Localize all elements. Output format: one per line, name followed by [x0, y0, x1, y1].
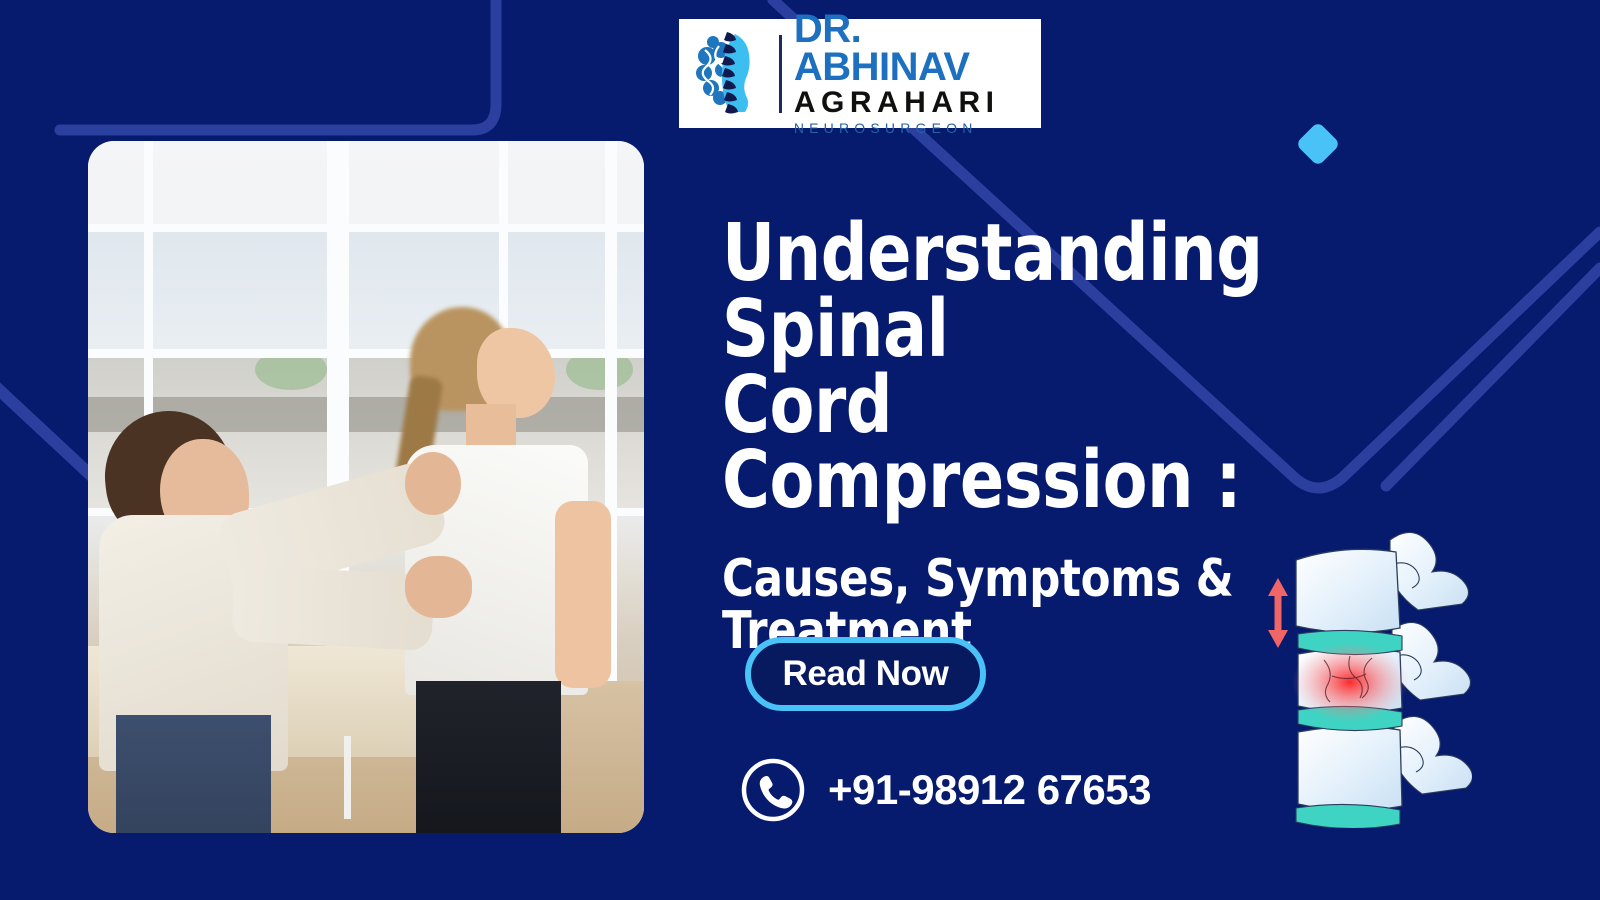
- therapist-jeans: [116, 715, 272, 833]
- brain-spine-head-icon: [691, 26, 775, 122]
- phone-number-text: +91-98912 67653: [828, 766, 1151, 814]
- read-now-button[interactable]: Read Now: [745, 637, 986, 711]
- spine-compression-diagram: [1262, 518, 1472, 828]
- patient-leggings: [416, 681, 561, 833]
- window-sky: [88, 224, 644, 349]
- diagonal-line-left: [0, 372, 98, 482]
- curve-line-top-left: [60, 0, 496, 130]
- hero-photo: [88, 141, 644, 833]
- headline-line-1: Understanding Spinal: [722, 207, 1263, 375]
- hero-photo-image: [88, 141, 644, 833]
- contact-phone[interactable]: +91-98912 67653: [740, 757, 1151, 823]
- phone-circle-icon[interactable]: [740, 757, 806, 823]
- therapist-hand-shoulder: [405, 556, 472, 618]
- logo-wordmark: DR. ABHINAV AGRAHARI NEUROSURGEON: [794, 10, 1031, 137]
- table-leg: [344, 736, 351, 819]
- pain-glow: [1292, 642, 1408, 722]
- patient-arm: [555, 501, 611, 688]
- subhead-line-1: Causes, Symptoms &: [722, 549, 1233, 609]
- window-mullion: [88, 349, 644, 358]
- vertebra-lower: [1298, 726, 1402, 810]
- page-title: Understanding Spinal Cord Compression :: [722, 216, 1384, 519]
- brand-logo[interactable]: DR. ABHINAV AGRAHARI NEUROSURGEON: [679, 19, 1041, 128]
- therapist-lower-arm: [231, 565, 435, 651]
- vertebra-process: [1390, 532, 1472, 794]
- headline-line-2: Cord Compression :: [722, 368, 1384, 520]
- logo-divider: [779, 35, 782, 113]
- window-mullion: [88, 224, 644, 232]
- logo-line-surname: AGRAHARI: [794, 87, 1031, 119]
- height-loss-arrow: [1268, 578, 1288, 648]
- vertebra-upper: [1296, 549, 1400, 632]
- therapist-hand-head: [405, 452, 461, 514]
- logo-line-doctor-name: DR. ABHINAV: [794, 10, 1031, 87]
- diamond-accent-icon: [1288, 114, 1348, 174]
- logo-line-specialty: NEUROSURGEON: [794, 119, 1031, 137]
